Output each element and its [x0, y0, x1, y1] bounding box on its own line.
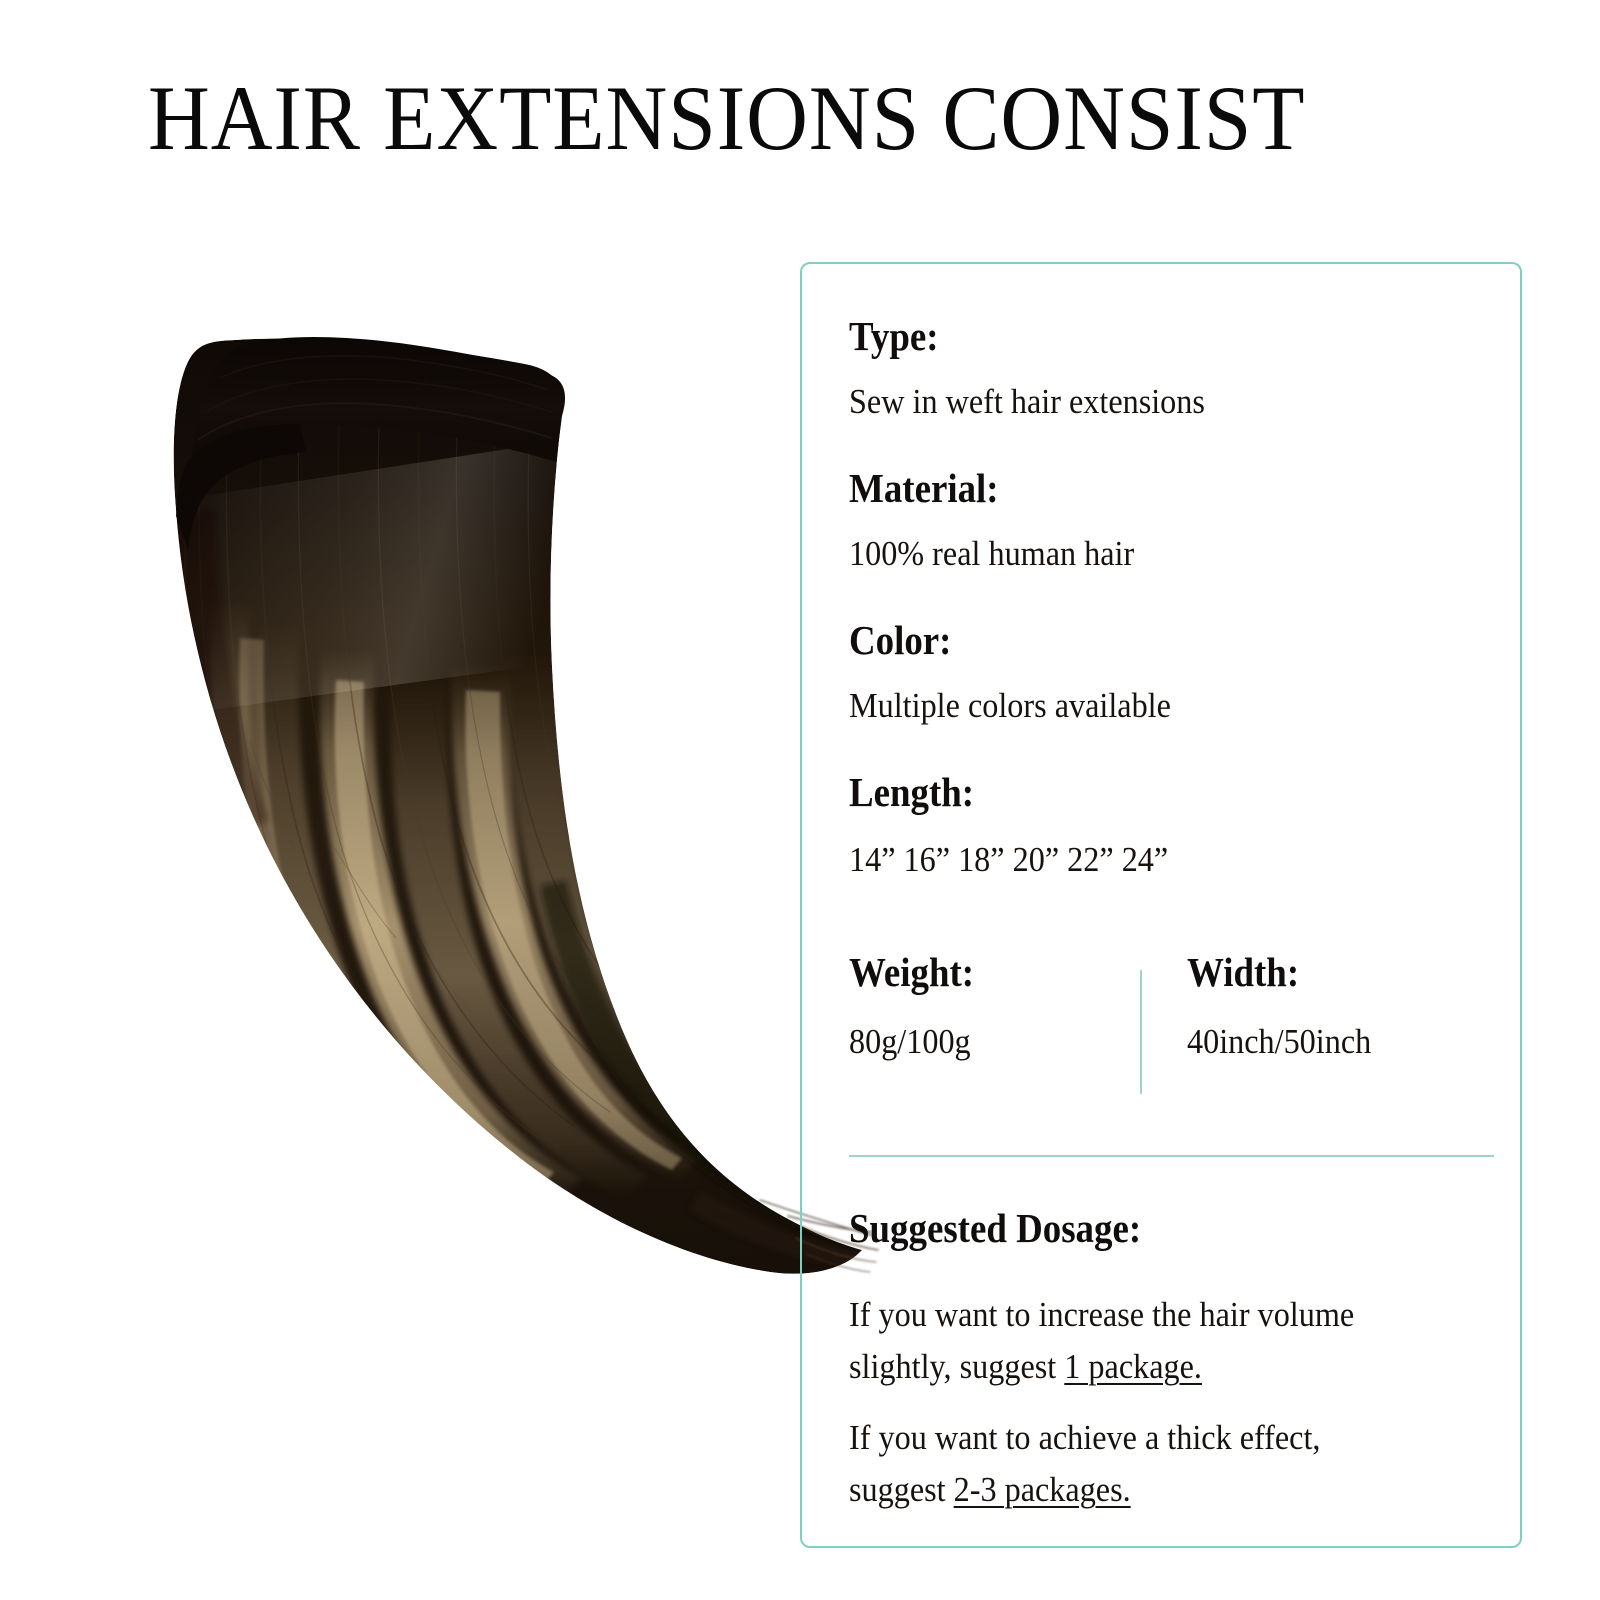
spec-value-width: 40inch/50inch	[1187, 1024, 1371, 1059]
spec-value-color: Multiple colors available	[849, 688, 1171, 723]
dosage-line-2: If you want to achieve a thick effect, s…	[849, 1412, 1419, 1516]
spec-value-weight: 80g/100g	[849, 1024, 971, 1059]
spec-label-width: Width:	[1187, 952, 1299, 993]
spec-label-suggested-dosage: Suggested Dosage:	[849, 1208, 1141, 1249]
page-title: HAIR EXTENSIONS CONSIST	[148, 72, 1376, 164]
hair-extension-product-image	[0, 320, 880, 1430]
spec-value-material: 100% real human hair	[849, 536, 1134, 571]
dosage-line-1: If you want to increase the hair volume …	[849, 1289, 1419, 1393]
product-specs-panel: Type: Sew in weft hair extensions Materi…	[800, 262, 1522, 1548]
spec-value-length: 14” 16” 18” 20” 22” 24”	[849, 842, 1168, 877]
spec-value-type: Sew in weft hair extensions	[849, 384, 1205, 419]
spec-label-length: Length:	[849, 772, 974, 813]
dosage-line-2-emphasis: 2-3 packages.	[954, 1470, 1131, 1509]
weight-width-vertical-divider	[1140, 970, 1142, 1094]
spec-label-weight: Weight:	[849, 952, 974, 993]
dosage-section-divider	[849, 1155, 1494, 1157]
infographic-canvas: HAIR EXTENSIONS CONSIST	[0, 0, 1600, 1600]
dosage-line-1-emphasis: 1 package.	[1064, 1347, 1202, 1386]
spec-label-type: Type:	[849, 316, 939, 357]
spec-label-color: Color:	[849, 620, 951, 661]
spec-label-material: Material:	[849, 468, 999, 509]
